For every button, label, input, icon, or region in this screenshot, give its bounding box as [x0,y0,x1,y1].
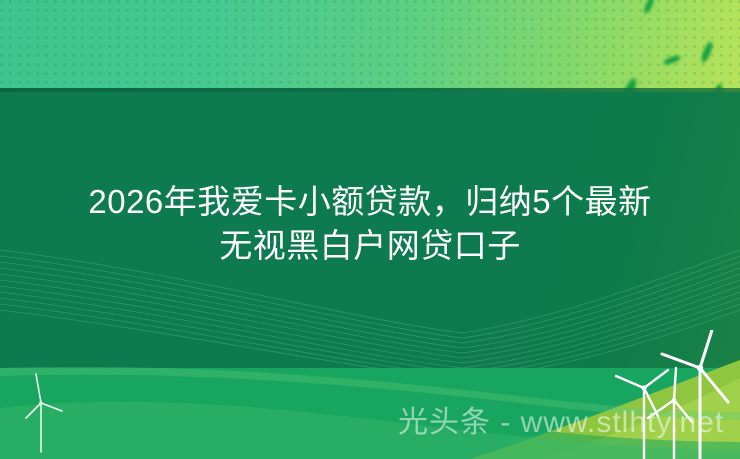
title-line-2: 无视黑白户网贷口子 [18,224,722,268]
wind-turbine-left [10,355,100,459]
title-line-1: 2026年我爱卡小额贷款，归纳5个最新 [18,180,722,224]
poster-canvas: 2026年我爱卡小额贷款，归纳5个最新 无视黑白户网贷口子 光头条 - www.… [0,0,740,459]
poster-title: 2026年我爱卡小额贷款，归纳5个最新 无视黑白户网贷口子 [0,180,740,268]
watermark-text: 光头条 - www.stlhty.net [398,404,724,442]
